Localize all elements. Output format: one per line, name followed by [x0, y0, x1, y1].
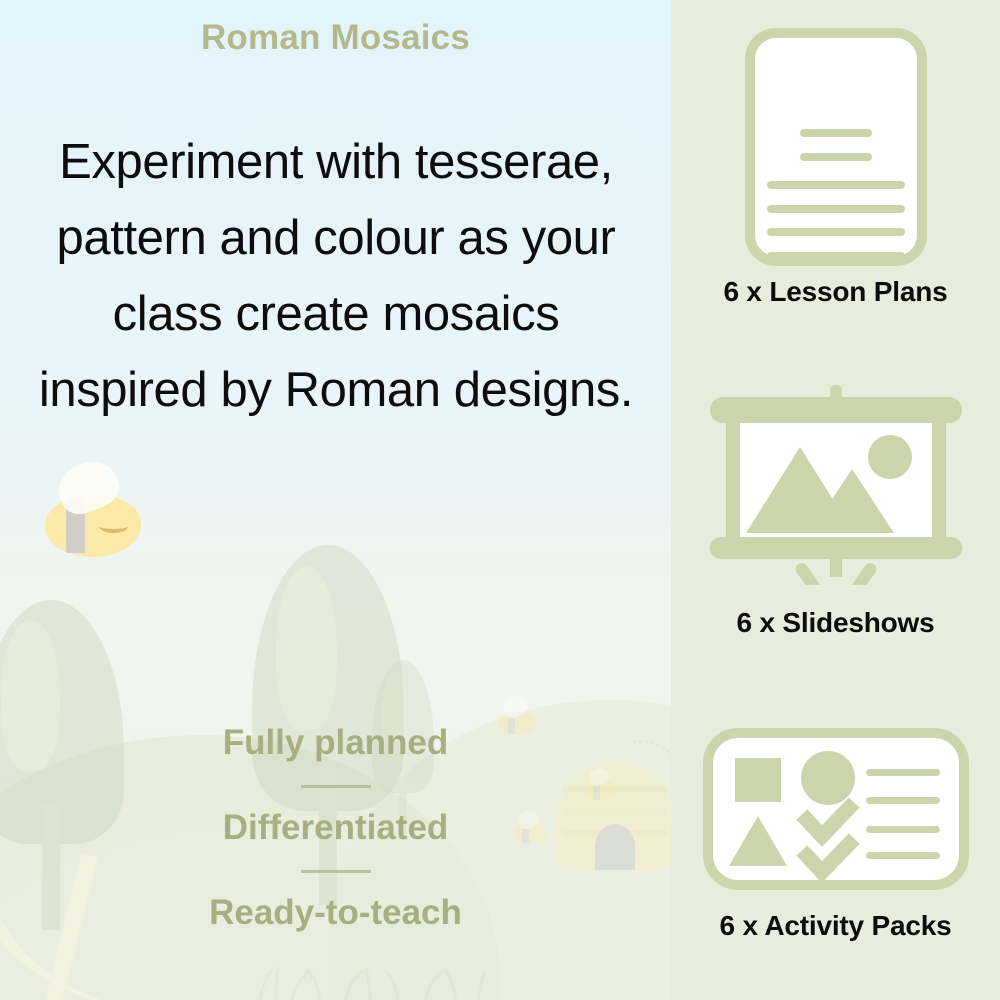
- promo-card: Roman Mosaics Experiment with tesserae, …: [0, 0, 1000, 1000]
- feature-divider: [301, 870, 371, 873]
- resource-label: 6 x Lesson Plans: [671, 276, 1000, 308]
- feature-divider: [301, 785, 371, 788]
- feature-item: Differentiated: [0, 807, 671, 848]
- activity-card-icon: [703, 728, 969, 890]
- resource-item-lesson-plans[interactable]: 6 x Lesson Plans: [671, 28, 1000, 308]
- resource-sidebar: 6 x Lesson Plans: [671, 0, 1000, 1000]
- resource-item-slideshows[interactable]: 6 x Slideshows: [671, 385, 1000, 639]
- feature-list: Fully planned Differentiated Ready-to-te…: [0, 722, 671, 933]
- resource-label: 6 x Slideshows: [671, 607, 1000, 639]
- presentation-screen-icon: [702, 385, 970, 585]
- document-icon: [745, 28, 927, 266]
- icon-container: [671, 28, 1000, 266]
- resource-label: 6 x Activity Packs: [671, 910, 1000, 942]
- headline-text: Experiment with tesserae, pattern and co…: [38, 124, 634, 428]
- left-panel: Roman Mosaics Experiment with tesserae, …: [0, 0, 671, 1000]
- icon-container: [671, 728, 1000, 890]
- feature-item: Ready-to-teach: [0, 892, 671, 933]
- resource-item-activity-packs[interactable]: 6 x Activity Packs: [671, 728, 1000, 942]
- icon-container: [671, 385, 1000, 585]
- feature-item: Fully planned: [0, 722, 671, 763]
- page-title: Roman Mosaics: [0, 18, 671, 58]
- grass-tufts-icon: [250, 962, 490, 1000]
- bee-icon: [45, 495, 141, 557]
